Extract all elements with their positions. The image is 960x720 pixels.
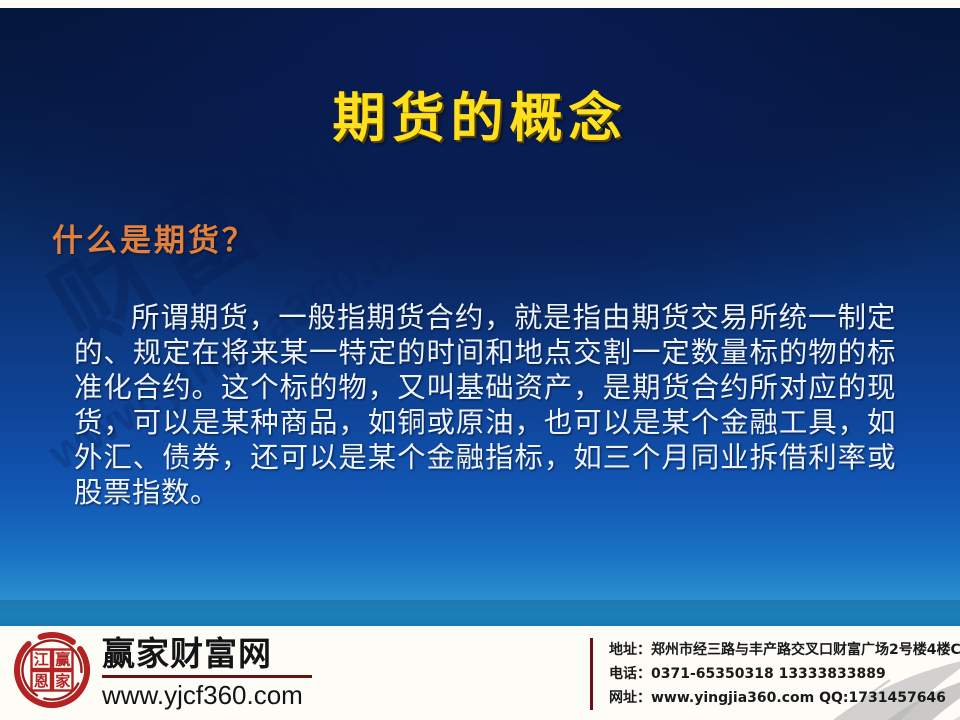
seal-char-1: 赢: [55, 650, 70, 668]
contact-address: 地址：郑州市经三路与丰产路交叉口财富广场2号楼4楼C户: [609, 638, 960, 662]
site-logo[interactable]: 江 赢 恩 家 赢家财富网 www.yjcf360.com: [10, 628, 312, 712]
slide-body: 所谓期货，一般指期货合约，就是指由期货交易所统一制定的、规定在将来某一特定的时间…: [74, 300, 896, 510]
brand-url[interactable]: www.yjcf360.com: [102, 680, 312, 710]
slide-footer: 江 赢 恩 家 赢家财富网 www.yjcf360.com 地址：郑州市经三路与…: [0, 626, 960, 720]
contact-website[interactable]: 网址：www.yingjia360.com QQ:1731457646: [609, 686, 960, 710]
slide-body-text: 所谓期货，一般指期货合约，就是指由期货交易所统一制定的、规定在将来某一特定的时间…: [74, 300, 896, 510]
contact-info: 地址：郑州市经三路与丰产路交叉口财富广场2号楼4楼C户 电话：0371-6535…: [590, 638, 960, 710]
contact-divider: [590, 638, 593, 710]
seal-char-3: 家: [55, 672, 70, 690]
seal-char-2: 恩: [34, 672, 49, 690]
slide-subtitle-text: 什么是期货？: [52, 223, 256, 259]
footer-accent-bar: [0, 600, 960, 626]
brand-name: 赢家财富网: [102, 635, 312, 673]
slide-title-text: 期货的概念: [333, 76, 628, 152]
brand-block: 赢家财富网 www.yjcf360.com: [102, 631, 312, 710]
slide-subtitle: 什么是期货？: [52, 215, 256, 260]
seal-char-0: 江: [34, 650, 49, 668]
top-margin-strip: [0, 0, 960, 8]
presentation-slide: 财富网 www.yingjia360.com 期货的概念 什么是期货？ 所谓期货…: [0, 0, 960, 720]
brand-divider: [102, 675, 312, 678]
contact-phone: 电话：0371-65350318 13333833889: [609, 662, 960, 686]
slide-content-stage: 财富网 www.yingjia360.com 期货的概念 什么是期货？ 所谓期货…: [0, 8, 960, 600]
slide-title: 期货的概念: [0, 76, 960, 152]
seal-logo-icon: 江 赢 恩 家: [10, 628, 94, 712]
